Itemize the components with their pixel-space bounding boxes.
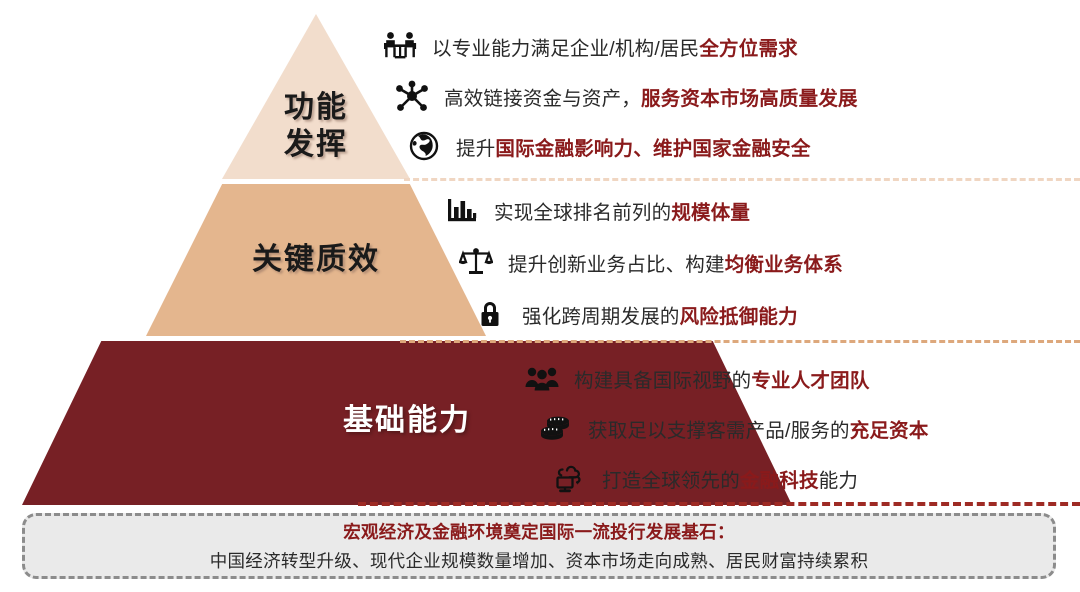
globe-icon (402, 126, 446, 166)
bullet-text: 强化跨周期发展的风险抵御能力 (522, 300, 798, 329)
bullet-text-plain: 实现全球排名前列的 (494, 202, 671, 224)
bullet-row[interactable]: 实现全球排名前列的规模体量 (440, 185, 843, 235)
bullet-text-plain: 高效链接资金与资产， (444, 88, 641, 110)
bullet-row[interactable]: 构建具备国际视野的专业人才团队 (520, 354, 929, 402)
bullet-text-plain: 打造全球领先的 (602, 470, 740, 492)
tier-middle-label-line1: 关键质效 (252, 241, 380, 278)
balance-scale-icon (454, 242, 498, 282)
bullet-text: 获取足以支撑客需产品/服务的充足资本 (588, 414, 929, 443)
bullet-text: 实现全球排名前列的规模体量 (494, 196, 750, 225)
bullet-group-function: 以专业能力满足企业/机构/居民全方位需求 高效链接资金与资产 (378, 22, 858, 172)
cloud-computer-icon (548, 458, 592, 498)
bullet-text-highlight: 金融科技 (740, 470, 819, 492)
bullet-text: 打造全球领先的金融科技能力 (602, 464, 858, 493)
bullet-row[interactable]: 获取足以支撑客需产品/服务的充足资本 (534, 404, 929, 452)
footer-title: 宏观经济及金融环境奠定国际一流投行发展基石： (343, 519, 735, 544)
footer-subtitle: 中国经济转型升级、现代企业规模数量增加、资本市场走向成熟、居民财富持续累积 (210, 548, 869, 573)
bullet-text-highlight: 规模体量 (671, 202, 750, 224)
meeting-people-icon (378, 26, 422, 66)
bullet-text-highlight: 充足资本 (850, 420, 929, 442)
coins-icon (534, 408, 578, 448)
bullet-group-foundation: 构建具备国际视野的专业人才团队 获取足 (520, 354, 929, 504)
bullet-text-plain: 提升创新业务占比、构建 (508, 254, 725, 276)
bullet-text: 高效链接资金与资产，服务资本市场高质量发展 (444, 82, 858, 111)
bullet-row[interactable]: 以专业能力满足企业/机构/居民全方位需求 (378, 22, 858, 70)
tier-middle-label: 关键质效 (146, 230, 486, 290)
separator-top (404, 178, 1080, 181)
bullet-row[interactable]: 高效链接资金与资产，服务资本市场高质量发展 (390, 72, 858, 120)
bullet-text: 提升创新业务占比、构建均衡业务体系 (508, 248, 843, 277)
bullet-text-highlight: 全方位需求 (699, 38, 798, 60)
bullet-text-highlight: 风险抵御能力 (680, 306, 798, 328)
bullet-text-plain: 强化跨周期发展的 (522, 306, 680, 328)
footer-note-box: 宏观经济及金融环境奠定国际一流投行发展基石： 中国经济转型升级、现代企业规模数量… (22, 513, 1056, 579)
bullet-text-plain: 以专业能力满足企业/机构/居民 (432, 38, 699, 60)
pyramid-tier-middle[interactable]: 关键质效 (146, 184, 486, 336)
bullet-text: 以专业能力满足企业/机构/居民全方位需求 (432, 32, 798, 61)
bar-chart-icon (440, 190, 484, 230)
bullet-text-plain: 构建具备国际视野的 (574, 370, 751, 392)
network-hub-icon (390, 76, 434, 116)
bullet-row[interactable]: 打造全球领先的金融科技能力 (548, 454, 929, 502)
tier-base-label-line1: 基础能力 (343, 402, 471, 439)
bullet-text-highlight: 专业人才团队 (751, 370, 869, 392)
bullet-row[interactable]: 强化跨周期发展的风险抵御能力 (468, 289, 843, 339)
pyramid-infographic: 功能 发挥 关键质效 基础能力 (0, 0, 1080, 592)
tier-top-label-line1: 功能 (284, 89, 348, 126)
bullet-row[interactable]: 提升国际金融影响力、维护国家金融安全 (402, 122, 858, 170)
bullet-row[interactable]: 提升创新业务占比、构建均衡业务体系 (454, 237, 843, 287)
bullet-text-highlight: 国际金融影响力、维护国家金融安全 (495, 138, 810, 160)
lock-icon (468, 294, 512, 334)
people-group-icon (520, 358, 564, 398)
bullet-text: 构建具备国际视野的专业人才团队 (574, 364, 870, 393)
bullet-text-highlight: 均衡业务体系 (725, 254, 843, 276)
bullet-group-quality: 实现全球排名前列的规模体量 提升创新业务占比、构建均衡业务体系 (440, 185, 843, 341)
bullet-text-tail: 能力 (819, 470, 858, 492)
bullet-text-plain: 获取足以支撑客需产品/服务的 (588, 420, 850, 442)
bullet-text-plain: 提升 (456, 138, 495, 160)
tier-top-label-line2: 发挥 (284, 126, 348, 163)
bullet-text-highlight: 服务资本市场高质量发展 (641, 88, 858, 110)
bullet-text: 提升国际金融影响力、维护国家金融安全 (456, 132, 811, 161)
